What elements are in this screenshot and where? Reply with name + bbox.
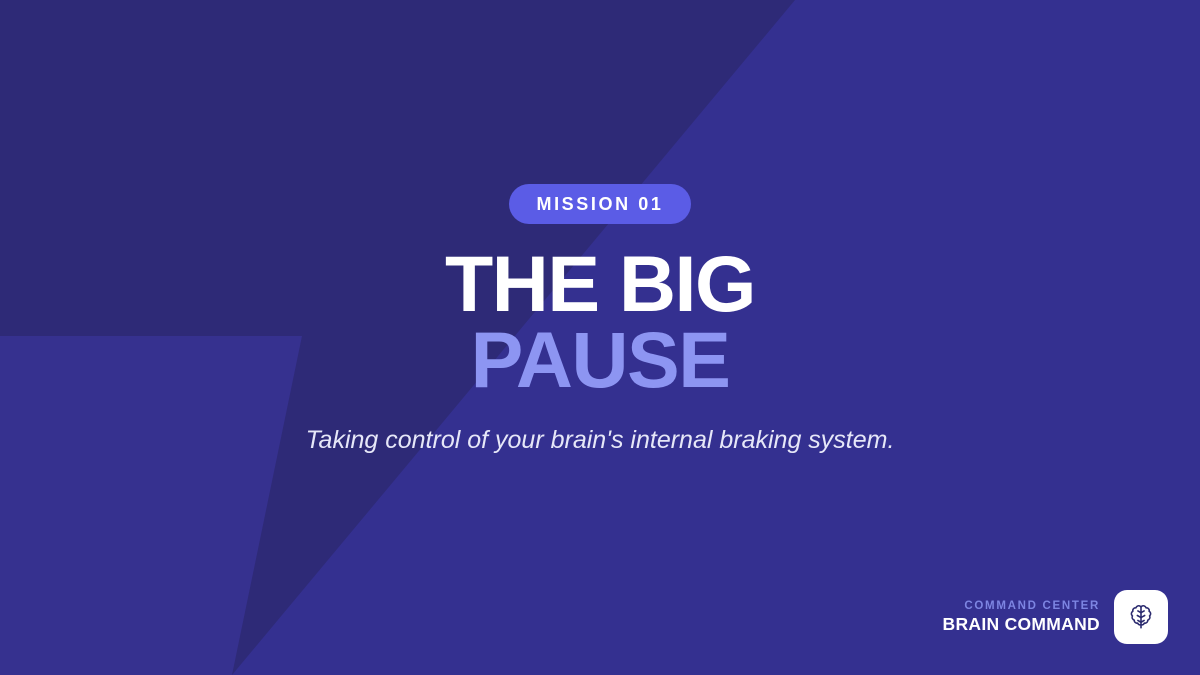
brain-icon <box>1126 602 1156 632</box>
brand-icon-tile <box>1114 590 1168 644</box>
brand-text-group: COMMAND CENTER BRAIN COMMAND <box>943 601 1101 633</box>
page-title: THE BIG PAUSE <box>445 246 755 398</box>
slide-content: MISSION 01 THE BIG PAUSE Taking control … <box>0 0 1200 675</box>
brand-kicker: COMMAND CENTER <box>964 601 1100 613</box>
mission-badge: MISSION 01 <box>509 184 690 224</box>
title-line-accent: PAUSE <box>445 322 755 398</box>
presentation-slide: MISSION 01 THE BIG PAUSE Taking control … <box>0 0 1200 675</box>
title-line-primary: THE BIG <box>445 246 755 322</box>
brand-lockup: COMMAND CENTER BRAIN COMMAND <box>943 590 1169 644</box>
brand-name: BRAIN COMMAND <box>943 616 1101 634</box>
slide-subtitle: Taking control of your brain's internal … <box>300 424 900 456</box>
